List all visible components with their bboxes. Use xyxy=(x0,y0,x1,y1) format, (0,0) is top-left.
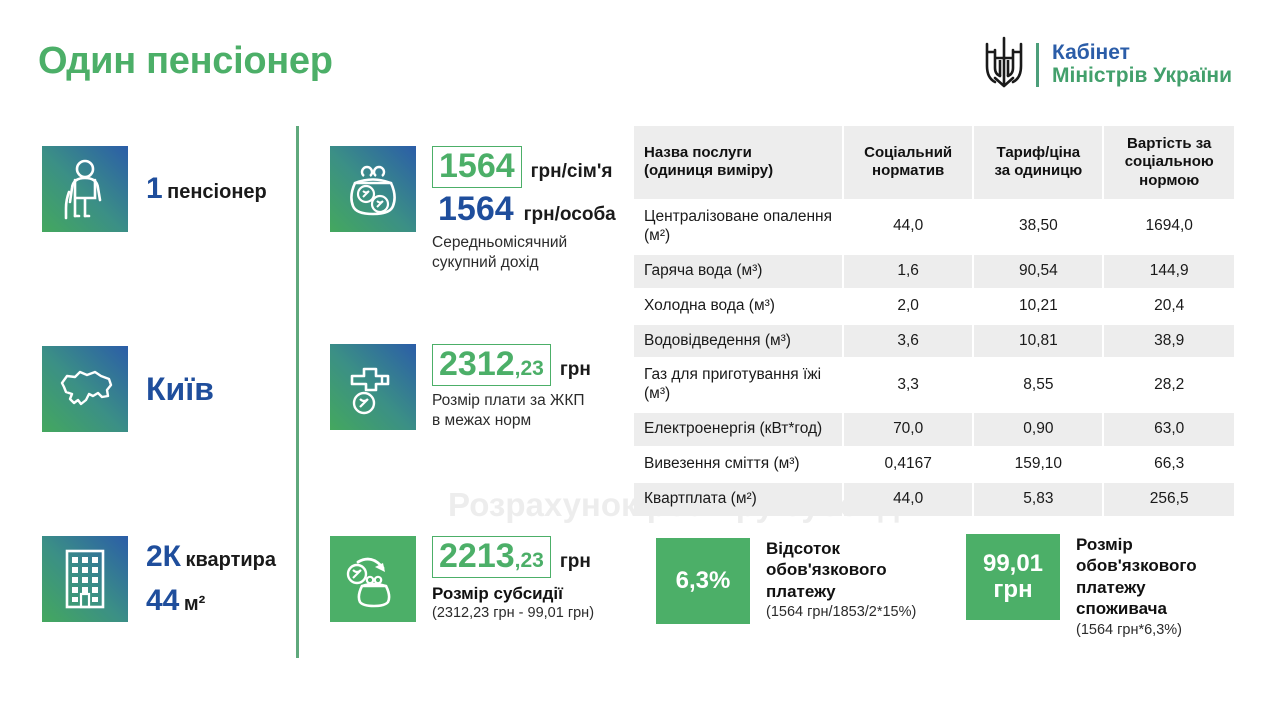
table-row: Газ для приготування їжі (м³)3,38,5528,2 xyxy=(634,359,1234,411)
income-family-unit: грн/сім'я xyxy=(531,161,613,183)
income-person-row: 1564 грн/особа xyxy=(432,190,616,228)
utility-value-dec: ,23 xyxy=(515,357,544,381)
utility-value-box: 2312 ,23 xyxy=(432,344,551,386)
apartment-rooms-line: 2К квартира xyxy=(146,540,276,574)
city-name: Київ xyxy=(146,371,214,407)
mandatory-percent-title-l3: платежу xyxy=(766,581,916,602)
tariffs-table-head: Назва послуги (одиниця виміру) Соціальни… xyxy=(634,126,1234,199)
income-person-unit: грн/особа xyxy=(524,204,616,226)
subsidy-value-row: 2213 ,23 грн xyxy=(432,536,594,578)
subsidy-formula: (2312,23 грн - 99,01 грн) xyxy=(432,604,594,622)
apartment-area: 44 xyxy=(146,584,179,617)
table-row: Водовідведення (м³)3,610,8138,9 xyxy=(634,325,1234,358)
table-cell-name: Централізоване опалення (м²) xyxy=(634,201,842,253)
table-cell-cost: 20,4 xyxy=(1104,290,1234,323)
tariffs-table: Назва послуги (одиниця виміру) Соціальни… xyxy=(632,124,1236,518)
table-row: Централізоване опалення (м²)44,038,50169… xyxy=(634,201,1234,253)
mandatory-amount-note: (1564 грн*6,3%) xyxy=(1076,622,1197,638)
pensioner-block: 1 пенсіонер xyxy=(42,146,267,232)
table-cell-norm: 2,0 xyxy=(844,290,972,323)
apartment-block: 2К квартира 44 м² xyxy=(42,536,276,622)
table-row: Гаряча вода (м³)1,690,54144,9 xyxy=(634,255,1234,288)
table-cell-name: Вивезення сміття (м³) xyxy=(634,448,842,481)
table-cell-tariff: 0,90 xyxy=(974,413,1102,446)
column-header-norm-l2: норматив xyxy=(854,162,962,180)
vertical-divider xyxy=(296,126,299,658)
subsidy-value-dec: ,23 xyxy=(515,549,544,573)
table-cell-norm: 0,4167 xyxy=(844,448,972,481)
table-cell-cost: 66,3 xyxy=(1104,448,1234,481)
utility-value-int: 2312 xyxy=(439,345,515,383)
table-cell-norm: 44,0 xyxy=(844,483,972,516)
pensioner-icon xyxy=(42,146,128,232)
apartment-rooms: 2К xyxy=(146,540,181,573)
coin-into-purse-icon xyxy=(330,536,416,622)
apartment-building-icon xyxy=(42,536,128,622)
utility-unit: грн xyxy=(560,359,591,381)
mandatory-percent-title-l1: Відсоток xyxy=(766,538,916,559)
apartment-area-label: м² xyxy=(184,593,205,615)
table-cell-name: Водовідведення (м³) xyxy=(634,325,842,358)
logo-line-2: Міністрів України xyxy=(1052,65,1232,87)
utility-value-row: 2312 ,23 грн xyxy=(432,344,591,386)
table-cell-norm: 70,0 xyxy=(844,413,972,446)
column-header-norm-l1: Соціальний xyxy=(854,144,962,162)
mandatory-amount-text: Розмір обов'язкового платежу споживача (… xyxy=(1076,534,1197,638)
tariffs-table-body: Централізоване опалення (м²)44,038,50169… xyxy=(634,201,1234,516)
pensioner-count: 1 xyxy=(146,172,163,205)
table-cell-cost: 28,2 xyxy=(1104,359,1234,411)
table-cell-name: Гаряча вода (м³) xyxy=(634,255,842,288)
table-cell-name: Газ для приготування їжі (м³) xyxy=(634,359,842,411)
column-header-tariff: Тариф/ціна за одиницю xyxy=(974,126,1102,199)
income-text: 1564 грн/сім'я 1564 грн/особа Середньомі… xyxy=(432,146,616,272)
table-cell-name: Електроенергія (кВт*год) xyxy=(634,413,842,446)
income-family-value: 1564 xyxy=(439,147,515,185)
table-cell-cost: 38,9 xyxy=(1104,325,1234,358)
tariffs-table-wrapper: Назва послуги (одиниця виміру) Соціальни… xyxy=(632,124,1236,518)
logo-text: Кабінет Міністрів України xyxy=(1052,42,1232,86)
column-header-norm: Соціальний норматив xyxy=(844,126,972,199)
city-label-group: Київ xyxy=(146,371,214,408)
mandatory-percent-title-l2: обов'язкового xyxy=(766,559,916,580)
subsidy-text: 2213 ,23 грн Розмір субсидії (2312,23 гр… xyxy=(432,536,594,622)
mandatory-amount-block: 99,01 грн Розмір обов'язкового платежу с… xyxy=(966,534,1197,638)
logo-line-1: Кабінет xyxy=(1052,42,1232,64)
mandatory-percent-text: Відсоток обов'язкового платежу (1564 грн… xyxy=(766,538,916,620)
column-header-service: Назва послуги (одиниця виміру) xyxy=(634,126,842,199)
table-cell-cost: 63,0 xyxy=(1104,413,1234,446)
table-cell-name: Квартплата (м²) xyxy=(634,483,842,516)
table-cell-tariff: 10,81 xyxy=(974,325,1102,358)
table-cell-cost: 256,5 xyxy=(1104,483,1234,516)
subsidy-value-box: 2213 ,23 xyxy=(432,536,551,578)
mandatory-amount-title-l1: Розмір xyxy=(1076,534,1197,555)
utility-caption: Розмір плати за ЖКП в межах норм xyxy=(432,391,591,430)
subsidy-value-int: 2213 xyxy=(439,537,515,575)
apartment-rooms-label: квартира xyxy=(185,549,276,571)
pensioner-label-group: 1 пенсіонер xyxy=(146,172,267,206)
utility-caption-line-2: в межах норм xyxy=(432,411,591,431)
income-caption-line-2: сукупний дохід xyxy=(432,253,616,273)
column-header-tariff-l1: Тариф/ціна xyxy=(984,144,1092,162)
table-cell-norm: 3,6 xyxy=(844,325,972,358)
column-header-service-l2: (одиниця виміру) xyxy=(644,162,832,180)
table-cell-cost: 1694,0 xyxy=(1104,201,1234,253)
mandatory-percent-block: 6,3% Відсоток обов'язкового платежу (156… xyxy=(656,538,916,624)
column-header-cost: Вартість за соціальною нормою xyxy=(1104,126,1234,199)
column-header-cost-l3: нормою xyxy=(1114,172,1224,190)
mandatory-amount-unit: грн xyxy=(993,577,1032,603)
slide: Один пенсіонер Кабінет Міністрів України xyxy=(0,0,1280,720)
subsidy-block: 2213 ,23 грн Розмір субсидії (2312,23 гр… xyxy=(330,536,594,622)
income-family-row: 1564 грн/сім'я xyxy=(432,146,616,188)
column-header-cost-l1: Вартість за xyxy=(1114,135,1224,153)
utility-caption-line-1: Розмір плати за ЖКП xyxy=(432,391,591,411)
mandatory-amount-title: Розмір обов'язкового платежу споживача xyxy=(1076,534,1197,620)
income-caption: Середньомісячний сукупний дохід xyxy=(432,233,616,272)
income-caption-line-1: Середньомісячний xyxy=(432,233,616,253)
cabinet-of-ministers-logo: Кабінет Міністрів України xyxy=(981,36,1232,93)
mandatory-amount-title-l3: платежу xyxy=(1076,577,1197,598)
column-header-service-l1: Назва послуги xyxy=(644,144,832,162)
mandatory-amount-value: 99,01 xyxy=(983,551,1043,577)
mandatory-percent-value: 6,3% xyxy=(676,567,731,595)
apartment-area-line: 44 м² xyxy=(146,584,276,618)
ukraine-map-icon xyxy=(42,346,128,432)
table-cell-tariff: 159,10 xyxy=(974,448,1102,481)
logo-divider xyxy=(1036,43,1039,87)
table-cell-tariff: 8,55 xyxy=(974,359,1102,411)
table-cell-cost: 144,9 xyxy=(1104,255,1234,288)
table-cell-name: Холодна вода (м³) xyxy=(634,290,842,323)
income-family-value-box: 1564 xyxy=(432,146,522,188)
apartment-label-group: 2К квартира 44 м² xyxy=(146,540,276,618)
mandatory-amount-badge: 99,01 грн xyxy=(966,534,1060,620)
water-tap-icon xyxy=(330,344,416,430)
table-cell-tariff: 90,54 xyxy=(974,255,1102,288)
table-cell-norm: 3,3 xyxy=(844,359,972,411)
table-cell-tariff: 10,21 xyxy=(974,290,1102,323)
mandatory-percent-badge: 6,3% xyxy=(656,538,750,624)
column-header-tariff-l2: за одиницю xyxy=(984,162,1092,180)
pensioner-unit: пенсіонер xyxy=(167,181,267,203)
income-block: 1564 грн/сім'я 1564 грн/особа Середньомі… xyxy=(330,146,616,272)
table-row: Холодна вода (м³)2,010,2120,4 xyxy=(634,290,1234,323)
mandatory-amount-title-l4: споживача xyxy=(1076,598,1197,619)
mandatory-amount-title-l2: обов'язкового xyxy=(1076,555,1197,576)
subsidy-caption: Розмір субсидії xyxy=(432,583,594,604)
subsidy-unit: грн xyxy=(560,551,591,573)
utility-payment-text: 2312 ,23 грн Розмір плати за ЖКП в межах… xyxy=(432,344,591,430)
table-row: Вивезення сміття (м³)0,4167159,1066,3 xyxy=(634,448,1234,481)
column-header-cost-l2: соціальною xyxy=(1114,153,1224,171)
mandatory-percent-note: (1564 грн/1853/2*15%) xyxy=(766,604,916,620)
table-cell-tariff: 38,50 xyxy=(974,201,1102,253)
ukraine-trident-icon xyxy=(981,36,1027,93)
table-row: Електроенергія (кВт*год)70,00,9063,0 xyxy=(634,413,1234,446)
table-cell-tariff: 5,83 xyxy=(974,483,1102,516)
mandatory-percent-title: Відсоток обов'язкового платежу xyxy=(766,538,916,602)
page-title: Один пенсіонер xyxy=(38,40,333,83)
table-cell-norm: 1,6 xyxy=(844,255,972,288)
table-header-row: Назва послуги (одиниця виміру) Соціальни… xyxy=(634,126,1234,199)
income-person-value: 1564 xyxy=(432,190,520,228)
city-block: Київ xyxy=(42,346,214,432)
utility-payment-block: 2312 ,23 грн Розмір плати за ЖКП в межах… xyxy=(330,344,591,430)
table-row: Квартплата (м²)44,05,83256,5 xyxy=(634,483,1234,516)
wallet-coins-icon xyxy=(330,146,416,232)
table-cell-norm: 44,0 xyxy=(844,201,972,253)
